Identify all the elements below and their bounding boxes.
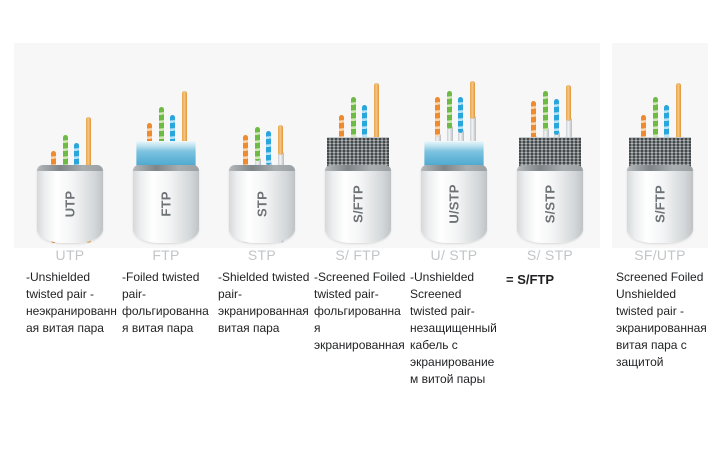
wire-orange (435, 97, 440, 137)
cable-description-sstp: = S/FTP (506, 272, 598, 287)
cable-jacket: S/FTP (325, 165, 391, 243)
cable-description-sftp: -Screened Foiled twisted pair-фольгирова… (314, 269, 406, 354)
cable-caption-ftp: FTP (118, 247, 214, 263)
cable-description-ustp: -Unshielded Screened twisted pair-незащи… (410, 269, 502, 388)
cable-jacket: U/STP (421, 165, 487, 243)
wire-blue (266, 131, 271, 165)
cable-illustration-sstp: S/STP (502, 43, 598, 243)
cable-caption-sstp: S/ STP (502, 247, 598, 263)
cable-column-stp: STP STP -Shielded twisted pair-экраниров… (214, 0, 310, 450)
cable-columns: UTP UTP -Unshielded twisted pair - неэкр… (0, 0, 720, 450)
wire-blue (554, 99, 559, 135)
jacket-label: FTP (159, 191, 174, 216)
jacket-label: S/FTP (653, 185, 668, 223)
cable-caption-stp: STP (214, 247, 310, 263)
cable-jacket: STP (229, 165, 295, 243)
cable-illustration-stp: STP (214, 43, 310, 243)
wire-green (447, 91, 452, 129)
cable-column-sstp: S/STP S/ STP = S/FTP (502, 0, 598, 450)
cable-jacket: S/STP (517, 165, 583, 243)
wire-green (543, 91, 548, 131)
jacket-label: UTP (63, 191, 78, 218)
cable-description-utp: -Unshielded twisted pair - неэкранирован… (26, 269, 118, 337)
jacket-label: S/FTP (351, 185, 366, 223)
cable-column-sfutp: S/FTP SF/UTP Screened Foiled Unshielded … (612, 0, 708, 450)
wire-tan (470, 81, 475, 119)
cable-description-ftp: -Foiled twisted pair-фольгированная вита… (122, 269, 214, 337)
wire-tan (566, 85, 571, 121)
cable-column-sftp: S/FTP S/ FTP -Screened Foiled twisted pa… (310, 0, 406, 450)
wire-orange (243, 135, 248, 169)
cable-caption-utp: UTP (22, 247, 118, 263)
wire-green (255, 127, 260, 161)
cable-column-utp: UTP UTP -Unshielded twisted pair - неэкр… (22, 0, 118, 450)
jacket-label: S/STP (543, 185, 558, 224)
wire-blue (458, 97, 463, 133)
cable-illustration-ustp: U/STP (406, 43, 502, 243)
jacket-label: STP (255, 191, 270, 217)
wire-tan (278, 125, 283, 155)
cable-illustration-sftp: S/FTP (310, 43, 406, 243)
cable-description-sfutp: Screened Foiled Unshielded twisted pair … (616, 269, 708, 371)
cable-illustration-sfutp: S/FTP (612, 43, 708, 243)
cable-caption-ustp: U/ STP (406, 247, 502, 263)
cable-jacket: UTP (37, 165, 103, 243)
cable-column-ftp: FTP FTP -Foiled twisted pair-фольгирован… (118, 0, 214, 450)
cable-caption-sfutp: SF/UTP (612, 247, 708, 263)
cable-jacket: FTP (133, 165, 199, 243)
cable-caption-sftp: S/ FTP (310, 247, 406, 263)
cable-column-ustp: U/STP U/ STP -Unshielded Screened twiste… (406, 0, 502, 450)
cable-description-stp: -Shielded twisted pair-экранированная ви… (218, 269, 310, 337)
jacket-label: U/STP (447, 184, 462, 223)
cable-illustration-ftp: FTP (118, 43, 214, 243)
cable-jacket: S/FTP (627, 165, 693, 243)
cable-illustration-utp: UTP (22, 43, 118, 243)
wire-orange (531, 101, 536, 139)
